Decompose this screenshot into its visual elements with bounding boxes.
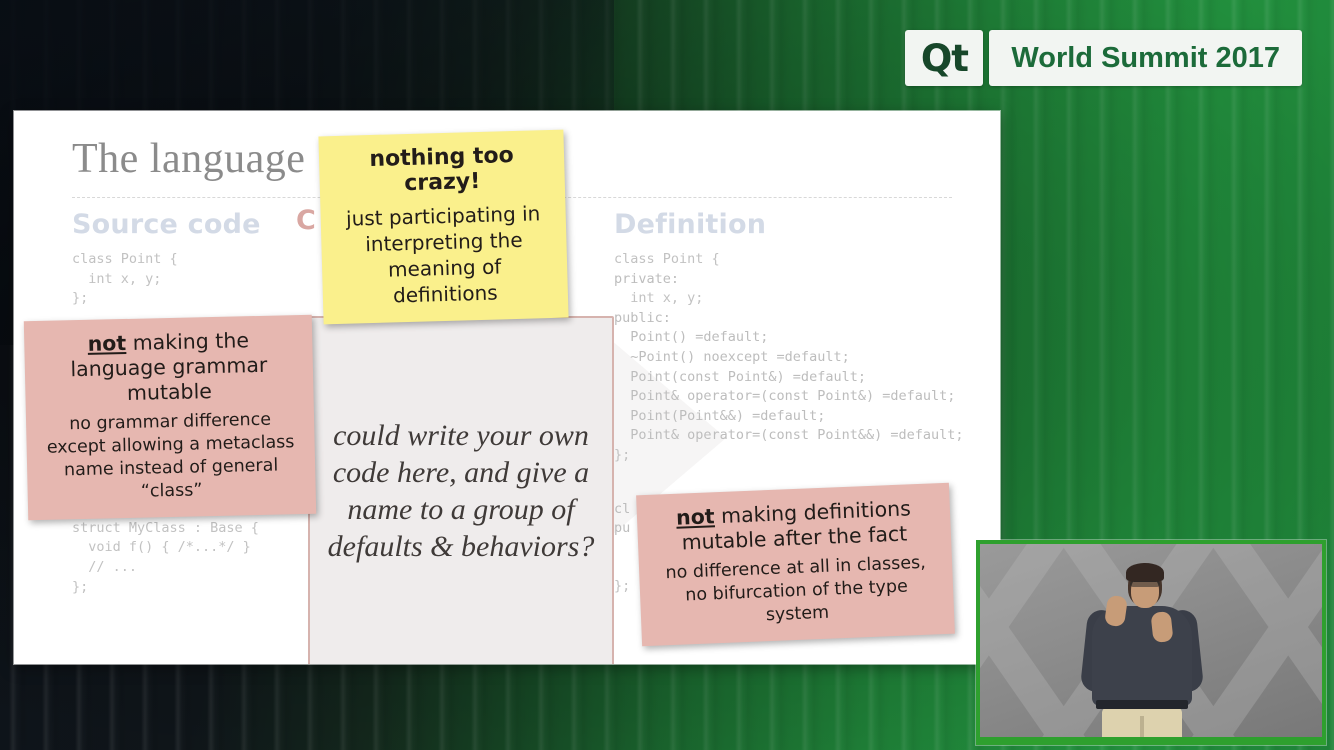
- source-code-block-top: class Point { int x, y; };: [72, 250, 302, 309]
- speaker-video-frame: [980, 544, 1322, 737]
- speaker-hand-right: [1150, 611, 1173, 643]
- sticky-note-pink-right-sub: no difference at all in classes, no bifu…: [653, 551, 941, 631]
- definition-code-generated-block: Point() =default; ~Point() noexcept =def…: [614, 328, 994, 446]
- screen-capture: Qt World Summit 2017 The language Source…: [0, 0, 1334, 750]
- definition-code-line-public: public:: [614, 309, 994, 329]
- sticky-note-pink-left: not making the language grammar mutable …: [24, 315, 316, 520]
- column-source-heading: Source code: [72, 209, 302, 240]
- sticky-note-pink-right-lead-rest: making definitions mutable after the fac…: [681, 496, 911, 554]
- definition-code-line-close: };: [614, 446, 994, 466]
- event-branding: Qt World Summit 2017: [905, 30, 1302, 86]
- sticky-note-pink-left-lead: not making the language grammar mutable: [38, 327, 300, 408]
- slide-title: The language: [72, 135, 305, 183]
- sticky-note-pink-right: not making definitions mutable after the…: [636, 483, 955, 646]
- source-code-block-bottom: struct MyClass : Base { void f() { /*...…: [72, 519, 302, 597]
- event-title-badge: World Summit 2017: [989, 30, 1302, 86]
- sticky-note-yellow-lead: nothing too crazy!: [333, 142, 551, 198]
- sticky-note-pink-left-sub: no grammar difference except allowing a …: [40, 408, 302, 506]
- sticky-note-pink-left-emphasis: not: [87, 331, 126, 356]
- sticky-note-yellow-sub: just participating in interpreting the m…: [334, 200, 554, 310]
- compile-time-question-text: could write your own code here, and give…: [314, 417, 608, 565]
- sticky-note-yellow: nothing too crazy! just participating in…: [318, 130, 568, 325]
- speaker-belt: [1096, 700, 1188, 709]
- definition-code-line-members: int x, y;: [614, 289, 994, 309]
- speaker-video-inset: [976, 540, 1326, 745]
- definition-code-line-class: class Point {: [614, 250, 994, 270]
- definition-code-line-private: private:: [614, 270, 994, 290]
- sticky-note-pink-right-lead: not making definitions mutable after the…: [651, 495, 938, 556]
- column-definition-heading: Definition: [614, 209, 994, 240]
- qt-logo: Qt: [905, 30, 983, 86]
- speaker-leg-split: [1140, 716, 1144, 737]
- sticky-note-pink-right-emphasis: not: [676, 504, 715, 530]
- speaker-glasses: [1130, 581, 1160, 587]
- speaker-hair: [1126, 563, 1164, 582]
